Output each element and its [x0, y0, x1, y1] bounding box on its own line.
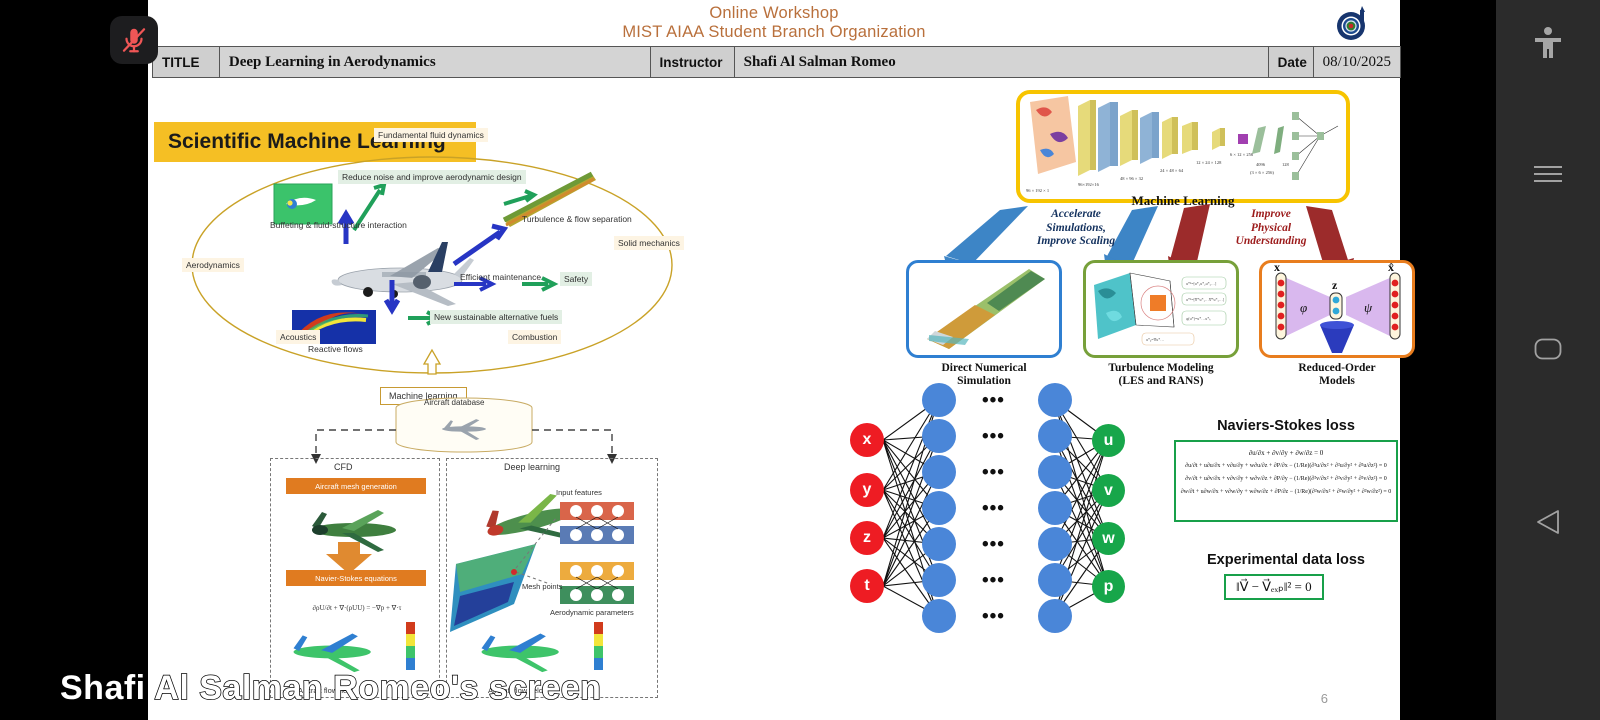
screen-share-caption: Shafi Al Salman Romeo's screen — [60, 669, 601, 708]
svg-text:x̂: x̂ — [1388, 263, 1394, 274]
hidden-node — [922, 599, 956, 633]
branch-label-accelerate: Accelerate Simulations, Improve Scaling — [1016, 208, 1136, 249]
svg-text:24 × 48 × 64: 24 × 48 × 64 — [1160, 168, 1184, 173]
svg-text:6 × 12 × 256: 6 × 12 × 256 — [1230, 152, 1254, 157]
svg-text:φ(u*)=u*…u*ₖ: φ(u*)=u*…u*ₖ — [1186, 316, 1211, 321]
hidden-node — [1038, 419, 1072, 453]
ring-label-fundamental-fluid-dynamics: Fundamental fluid dynamics — [374, 128, 488, 142]
ns-equation-4: ∂w/∂t + u∂w/∂x + v∂w/∂y + w∂w/∂z + ∂P/∂z… — [1180, 486, 1392, 499]
instructor-value: Shafi Al Salman Romeo — [734, 46, 1269, 78]
ring-label-aerodynamics: Aerodynamics — [182, 258, 244, 272]
hidden-node — [1038, 455, 1072, 489]
letterbox-left — [0, 0, 148, 720]
hidden-layers-ellipsis: ••• — [982, 540, 1005, 550]
deep-learning-branch-box — [446, 458, 658, 698]
letterbox-right — [1400, 0, 1496, 720]
dl-input-features-label: Input features — [556, 488, 602, 497]
slide-header: Online Workshop MIST AIAA Student Branch… — [148, 0, 1400, 46]
callout-buffeting: Buffeting & fluid-structure interaction — [270, 220, 407, 230]
panel-rom-caption: Reduced-Order Models — [1252, 362, 1422, 388]
branch-label-improve-line1: Improve — [1216, 208, 1326, 222]
panel-dns-caption-line1: Direct Numerical — [899, 362, 1069, 375]
branch-label-accelerate-line3: Improve Scaling — [1016, 235, 1136, 249]
svg-text:4096: 4096 — [1256, 162, 1266, 167]
hidden-layers-ellipsis: ••• — [982, 612, 1005, 622]
hidden-node — [922, 563, 956, 597]
hidden-node — [1038, 599, 1072, 633]
hidden-node — [1038, 527, 1072, 561]
panel-rom: xzx̂ φψ — [1259, 260, 1415, 358]
branch-label-improve-line2: Physical — [1216, 222, 1326, 236]
callout-alternative-fuels: New sustainable alternative fuels — [430, 310, 562, 324]
svg-text:u*ᵢⱼ=∇u*…: u*ᵢⱼ=∇u*… — [1146, 337, 1164, 342]
callout-reactive-flows: Reactive flows — [308, 344, 363, 354]
input-node-x: x — [850, 423, 884, 457]
android-navigation-bar — [1496, 0, 1600, 720]
branch-label-improve-physics: Improve Physical Understanding — [1216, 208, 1326, 249]
workshop-title-line1: Online Workshop — [709, 4, 838, 23]
shared-slide: Online Workshop MIST AIAA Student Branch… — [148, 0, 1400, 720]
svg-text:48 × 96 × 32: 48 × 96 × 32 — [1120, 176, 1143, 181]
ns-equation-1: ∂u/∂x + ∂v/∂y + ∂w/∂z = 0 — [1180, 447, 1392, 460]
database-label: Aircraft database — [424, 398, 484, 407]
panel-turbulence-caption-line1: Turbulence Modeling — [1076, 362, 1246, 375]
data-loss-equation: ‖V⃗ − V⃗ₑₓₚ‖² = 0 — [1236, 579, 1312, 594]
left-column: Fundamental fluid dynamics Aerodynamics … — [148, 78, 776, 720]
svg-text:(3 × 6 × 256): (3 × 6 × 256) — [1250, 170, 1274, 175]
slide-info-bar: TITLE Deep Learning in Aerodynamics Inst… — [152, 46, 1400, 78]
callout-turbulence-flow-separation: Turbulence & flow separation — [522, 214, 632, 224]
hidden-layers-ellipsis: ••• — [982, 468, 1005, 478]
svg-text:u*²=[u*₁u*₂u*₃…]: u*²=[u*₁u*₂u*₃…] — [1186, 281, 1217, 286]
slide-body: Scientific Machine Learning — [148, 78, 1400, 720]
panel-turbulence: u*²=[u*₁u*₂u*₃…] u*²=[∇*u*₁…∇*u*₃…] φ(u*… — [1083, 260, 1239, 358]
branch-label-improve-line3: Understanding — [1216, 235, 1326, 249]
callout-safety: Safety — [560, 272, 592, 286]
ring-label-solid-mechanics: Solid mechanics — [614, 236, 684, 250]
hidden-layers-ellipsis: ••• — [982, 576, 1005, 586]
hidden-layers-ellipsis: ••• — [982, 396, 1005, 406]
ring-label-combustion: Combustion — [508, 330, 561, 344]
home-rounded-square-icon[interactable] — [1534, 338, 1562, 365]
input-node-z: z — [850, 521, 884, 555]
svg-text:12 × 24 × 128: 12 × 24 × 128 — [1196, 160, 1222, 165]
hidden-layers-ellipsis: ••• — [982, 432, 1005, 442]
cfd-step-mesh-generation: Aircraft mesh generation — [286, 478, 426, 494]
title-label: TITLE — [152, 46, 220, 78]
hidden-node — [922, 491, 956, 525]
dl-mesh-points-label: Mesh points — [522, 582, 562, 591]
cfd-step-navier-stokes: Navier-Stokes equations — [286, 570, 426, 586]
navier-stokes-loss-box: ∂u/∂x + ∂v/∂y + ∂w/∂z = 0 ∂u/∂t + u∂u/∂x… — [1174, 440, 1398, 522]
input-node-y: y — [850, 473, 884, 507]
date-value: 08/10/2025 — [1313, 46, 1401, 78]
experimental-data-loss-box: ‖V⃗ − V⃗ₑₓₚ‖² = 0 — [1224, 574, 1324, 600]
dl-aero-parameters-label: Aerodynamic parameters — [550, 608, 634, 617]
deep-learning-branch-title: Deep learning — [504, 462, 560, 472]
pinn-network-diagram: x y z t — [836, 378, 1156, 708]
workshop-title-line2: MIST AIAA Student Branch Organization — [622, 23, 925, 42]
ns-equation-3: ∂v/∂t + u∂v/∂x + v∂v/∂y + w∂v/∂z + ∂P/∂y… — [1180, 473, 1392, 486]
navier-stokes-equation: ∂ρU/∂t + ∇·(ρUU) = −∇p + ∇·τ — [294, 604, 420, 612]
hamburger-menu-icon[interactable] — [1534, 164, 1562, 189]
mist-aiaa-logo — [1332, 2, 1374, 44]
hidden-node — [922, 455, 956, 489]
panel-dns — [906, 260, 1062, 358]
right-column: 96×192×16 48 × 96 × 32 24 × 48 × 64 12 ×… — [776, 78, 1400, 720]
svg-text:ψ: ψ — [1364, 300, 1373, 315]
panel-rom-caption-line2: Models — [1252, 375, 1422, 388]
ring-label-acoustics: Acoustics — [276, 330, 320, 344]
svg-text:128: 128 — [1282, 162, 1290, 167]
hidden-layers-ellipsis: ••• — [982, 504, 1005, 514]
aerodynamics-ellipse-figure: Fundamental fluid dynamics Aerodynamics … — [182, 132, 682, 407]
navier-stokes-loss-title: Naviers-Stokes loss — [1171, 418, 1401, 434]
panel-rom-caption-line1: Reduced-Order — [1252, 362, 1422, 375]
cfd-branch-title: CFD — [334, 462, 353, 472]
svg-text:z: z — [1332, 278, 1338, 292]
output-node-p: p — [1092, 570, 1125, 603]
accessibility-icon[interactable] — [1533, 26, 1563, 65]
svg-text:96×192×16: 96×192×16 — [1078, 182, 1100, 187]
output-node-w: w — [1092, 522, 1125, 555]
callout-reduce-noise: Reduce noise and improve aerodynamic des… — [338, 170, 526, 184]
screen-share-window: Online Workshop MIST AIAA Student Branch… — [0, 0, 1600, 720]
branch-label-accelerate-line1: Accelerate — [1016, 208, 1136, 222]
hidden-node — [1038, 383, 1072, 417]
machine-learning-caption: Machine Learning — [1016, 193, 1350, 209]
slide-page-number: 6 — [1321, 691, 1328, 706]
callout-efficient-maintenance: Efficient maintenance — [460, 272, 541, 282]
output-node-u: u — [1092, 424, 1125, 457]
hidden-node — [922, 527, 956, 561]
hidden-node — [1038, 563, 1072, 597]
back-triangle-icon[interactable] — [1535, 508, 1561, 541]
ns-equation-2: ∂u/∂t + u∂u/∂x + v∂u/∂y + w∂u/∂z + ∂P/∂x… — [1180, 460, 1392, 473]
instructor-label: Instructor — [650, 46, 735, 78]
hidden-node — [922, 383, 956, 417]
output-node-v: v — [1092, 474, 1125, 507]
experimental-data-loss-title: Experimental data loss — [1171, 552, 1401, 568]
input-node-t: t — [850, 569, 884, 603]
title-value: Deep Learning in Aerodynamics — [219, 46, 651, 78]
hidden-node — [1038, 491, 1072, 525]
branch-label-accelerate-line2: Simulations, — [1016, 222, 1136, 236]
date-label: Date — [1268, 46, 1314, 78]
hidden-node — [922, 419, 956, 453]
cfd-vs-deep-learning-figure: Aircraft database CFD Deep learning Airc… — [264, 396, 664, 706]
svg-text:φ: φ — [1300, 300, 1307, 315]
machine-learning-cnn-card: 96×192×16 48 × 96 × 32 24 × 48 × 64 12 ×… — [1016, 90, 1350, 203]
svg-text:u*²=[∇*u*₁…∇*u*₃…]: u*²=[∇*u*₁…∇*u*₃…] — [1186, 297, 1225, 302]
microphone-muted-icon[interactable] — [110, 16, 158, 64]
svg-text:x: x — [1274, 263, 1280, 274]
